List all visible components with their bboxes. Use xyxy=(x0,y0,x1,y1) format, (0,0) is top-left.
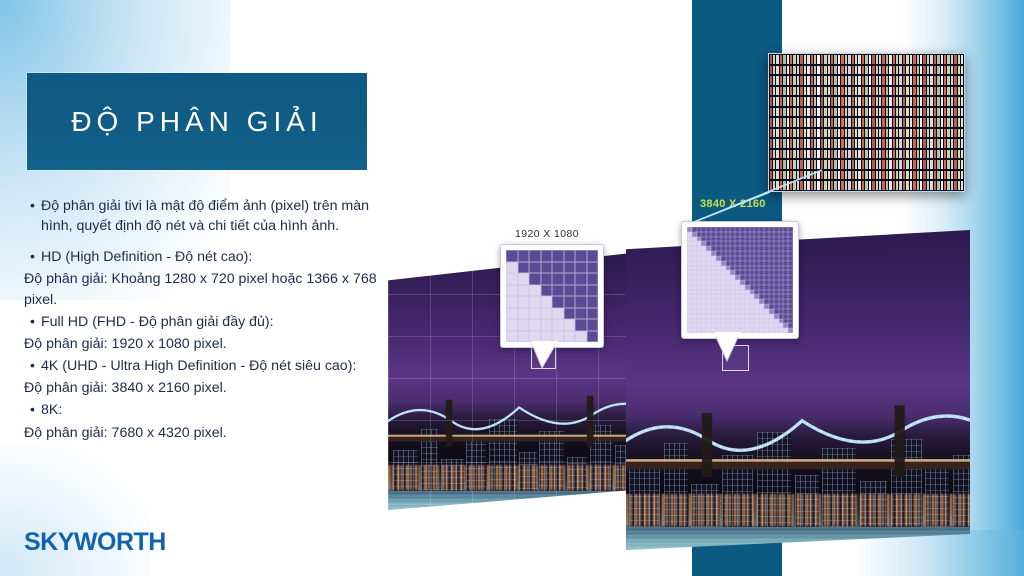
subpixel-stripe xyxy=(876,160,878,169)
pixel-cell xyxy=(564,262,576,274)
subpixel-stripe xyxy=(848,139,850,148)
subpixel-stripe xyxy=(934,150,936,159)
subpixel-triad xyxy=(902,138,912,149)
subpixel-stripe xyxy=(790,171,792,180)
subpixel-stripe xyxy=(869,108,871,117)
subpixel-stripe xyxy=(807,97,809,106)
subpixel-triad xyxy=(810,65,820,76)
subpixel-stripe xyxy=(800,181,802,190)
subpixel-stripe xyxy=(793,55,795,64)
subpixel-stripe xyxy=(958,66,960,75)
subpixel-triad xyxy=(954,159,964,170)
subpixel-stripe xyxy=(852,118,854,127)
subpixel-stripe xyxy=(817,76,819,85)
subpixel-stripe xyxy=(824,66,826,75)
subpixel-triad xyxy=(769,170,779,181)
subpixel-stripe xyxy=(797,97,799,106)
subpixel-stripe xyxy=(834,118,836,127)
subpixel-stripe xyxy=(882,76,884,85)
subpixel-stripe xyxy=(811,66,813,75)
subpixel-triad xyxy=(882,170,892,181)
subpixel-stripe xyxy=(923,129,925,138)
subpixel-stripe xyxy=(910,97,912,106)
subpixel-stripe xyxy=(913,55,915,64)
subpixel-stripe xyxy=(893,129,895,138)
subpixel-stripe xyxy=(797,139,799,148)
subpixel-stripe xyxy=(787,87,789,96)
subpixel-stripe xyxy=(944,66,946,75)
subpixel-stripe xyxy=(951,55,953,64)
subpixel-stripe xyxy=(776,118,778,127)
subpixel-stripe xyxy=(872,76,874,85)
pixel-cell xyxy=(552,308,564,320)
pixel-cell xyxy=(587,262,599,274)
subpixel-stripe xyxy=(824,150,826,159)
subpixel-stripe xyxy=(821,150,823,159)
subpixel-stripe xyxy=(927,87,929,96)
subpixel-triad xyxy=(892,159,902,170)
subpixel-stripe xyxy=(858,66,860,75)
subpixel-column xyxy=(800,54,810,191)
subpixel-stripe xyxy=(920,87,922,96)
subpixel-stripe xyxy=(896,87,898,96)
subpixel-triad xyxy=(913,75,923,86)
subpixel-stripe xyxy=(958,118,960,127)
subpixel-stripe xyxy=(899,97,901,106)
subpixel-stripe xyxy=(869,171,871,180)
subpixel-stripe xyxy=(783,108,785,117)
bullet-item: •Độ phân giải tivi là mật độ điểm ảnh (p… xyxy=(24,196,384,236)
subpixel-triad xyxy=(841,75,851,86)
subpixel-triad xyxy=(841,54,851,65)
subpixel-stripe xyxy=(951,108,953,117)
subpixel-stripe xyxy=(838,181,840,190)
subpixel-stripe xyxy=(852,160,854,169)
subpixel-stripe xyxy=(930,66,932,75)
subpixel-stripe xyxy=(923,139,925,148)
subpixel-stripe xyxy=(941,171,943,180)
subpixel-stripe xyxy=(848,150,850,159)
subpixel-stripe xyxy=(882,66,884,75)
subpixel-triad xyxy=(861,86,871,97)
subpixel-stripe xyxy=(941,150,943,159)
subpixel-stripe xyxy=(879,129,881,138)
subpixel-stripe xyxy=(770,55,772,64)
subpixel-stripe xyxy=(790,66,792,75)
subpixel-triad xyxy=(831,180,841,191)
subpixel-column xyxy=(790,54,800,191)
subpixel-stripe xyxy=(903,160,905,169)
pixel-cell xyxy=(518,273,530,285)
subpixel-triad xyxy=(810,117,820,128)
subpixel-stripe xyxy=(951,171,953,180)
subpixel-stripe xyxy=(773,160,775,169)
subpixel-stripe xyxy=(776,160,778,169)
subpixel-stripe xyxy=(855,97,857,106)
subpixel-stripe xyxy=(937,76,939,85)
subpixel-stripe xyxy=(882,129,884,138)
subpixel-stripe xyxy=(770,181,772,190)
subpixel-triad xyxy=(933,128,943,139)
subpixel-stripe xyxy=(917,108,919,117)
subpixel-stripe xyxy=(941,160,943,169)
subpixel-triad xyxy=(872,86,882,97)
subpixel-stripe xyxy=(848,76,850,85)
subpixel-stripe xyxy=(954,97,956,106)
subpixel-stripe xyxy=(814,150,816,159)
subpixel-stripe xyxy=(814,160,816,169)
subpixel-column xyxy=(913,54,923,191)
subpixel-column xyxy=(943,54,953,191)
bullet-item-text: Độ phân giải tivi là mật độ điểm ảnh (pi… xyxy=(41,196,384,236)
subpixel-triad xyxy=(861,128,871,139)
subpixel-stripe xyxy=(913,76,915,85)
subpixel-stripe xyxy=(855,87,857,96)
pixel-cell xyxy=(587,296,599,308)
subpixel-stripe xyxy=(780,150,782,159)
subpixel-triad xyxy=(841,65,851,76)
subpixel-stripe xyxy=(961,97,963,106)
subpixel-stripe xyxy=(910,150,912,159)
subpixel-stripe xyxy=(776,76,778,85)
subpixel-stripe xyxy=(872,97,874,106)
subpixel-triad xyxy=(943,54,953,65)
subpixel-stripe xyxy=(852,87,854,96)
subpixel-stripe xyxy=(876,87,878,96)
subpixel-triad xyxy=(779,180,789,191)
subpixel-triad xyxy=(841,117,851,128)
subpixel-stripe xyxy=(838,55,840,64)
subpixel-stripe xyxy=(961,66,963,75)
bullet-item-text: 8K: xyxy=(41,400,384,420)
subpixel-stripe xyxy=(906,139,908,148)
subpixel-stripe xyxy=(848,160,850,169)
subpixel-triad xyxy=(882,86,892,97)
subpixel-stripe xyxy=(920,150,922,159)
subpixel-triad xyxy=(779,86,789,97)
subpixel-stripe xyxy=(811,108,813,117)
subpixel-stripe xyxy=(947,76,949,85)
subpixel-stripe xyxy=(793,139,795,148)
pixel-cell xyxy=(564,331,576,343)
subpixel-stripe xyxy=(865,97,867,106)
subpixel-column xyxy=(831,54,841,191)
subpixel-stripe xyxy=(893,160,895,169)
subpixel-stripe xyxy=(879,76,881,85)
subpixel-stripe xyxy=(882,171,884,180)
subpixel-stripe xyxy=(858,76,860,85)
subpixel-triad xyxy=(872,107,882,118)
subpixel-stripe xyxy=(855,129,857,138)
subpixel-triad xyxy=(810,96,820,107)
subpixel-stripe xyxy=(862,171,864,180)
subpixel-stripe xyxy=(954,160,956,169)
pixel-cell xyxy=(518,331,530,343)
subpixel-stripe xyxy=(941,55,943,64)
subpixel-stripe xyxy=(930,171,932,180)
subpixel-stripe xyxy=(831,139,833,148)
subpixel-stripe xyxy=(834,76,836,85)
subpixel-stripe xyxy=(852,150,854,159)
subpixel-triad xyxy=(933,96,943,107)
subpixel-stripe xyxy=(917,181,919,190)
subpixel-stripe xyxy=(797,66,799,75)
subpixel-triad xyxy=(892,65,902,76)
subpixel-stripe xyxy=(937,97,939,106)
subpixel-stripe xyxy=(886,97,888,106)
subpixel-stripe xyxy=(838,66,840,75)
subpixel-stripe xyxy=(937,108,939,117)
uhd-resolution-label: 3840 X 2160 xyxy=(700,198,766,210)
subpixel-stripe xyxy=(787,160,789,169)
subpixel-stripe xyxy=(797,76,799,85)
pixel-cell xyxy=(587,319,599,331)
subpixel-stripe xyxy=(879,160,881,169)
subpixel-stripe xyxy=(876,108,878,117)
subpixel-stripe xyxy=(804,87,806,96)
subpixel-stripe xyxy=(958,129,960,138)
subpixel-stripe xyxy=(807,108,809,117)
subpixel-triad xyxy=(954,86,964,97)
subpixel-stripe xyxy=(814,66,816,75)
subpixel-triad xyxy=(913,86,923,97)
subpixel-stripe xyxy=(807,139,809,148)
subpixel-stripe xyxy=(930,181,932,190)
hd-pixel-callout xyxy=(500,244,604,348)
subpixel-stripe xyxy=(896,171,898,180)
subpixel-stripe xyxy=(770,87,772,96)
subpixel-stripe xyxy=(845,76,847,85)
subpixel-stripe xyxy=(841,55,843,64)
subpixel-stripe xyxy=(896,108,898,117)
pixel-cell xyxy=(575,331,587,343)
subpixel-stripe xyxy=(841,181,843,190)
subpixel-stripe xyxy=(893,118,895,127)
subpixel-stripe xyxy=(951,87,953,96)
subpixel-stripe xyxy=(800,129,802,138)
subpixel-stripe xyxy=(841,150,843,159)
subpixel-triad xyxy=(913,149,923,160)
subpixel-triad xyxy=(943,107,953,118)
subpixel-stripe xyxy=(920,139,922,148)
subpixel-stripe xyxy=(934,76,936,85)
subpixel-stripe xyxy=(783,76,785,85)
subpixel-stripe xyxy=(817,139,819,148)
subpixel-stripe xyxy=(917,87,919,96)
bullet-item: •HD (High Definition - Độ nét cao): xyxy=(24,247,384,267)
subpixel-stripe xyxy=(899,150,901,159)
subpixel-triad xyxy=(800,117,810,128)
subpixel-triad xyxy=(800,65,810,76)
subpixel-triad xyxy=(810,170,820,181)
subpixel-stripe xyxy=(838,171,840,180)
subpixel-triad xyxy=(882,96,892,107)
subpixel-stripe xyxy=(811,87,813,96)
subpixel-stripe xyxy=(896,97,898,106)
pixel-cell xyxy=(564,285,576,297)
subpixel-stripe xyxy=(910,76,912,85)
subpixel-stripe xyxy=(876,118,878,127)
subpixel-triad xyxy=(902,107,912,118)
subpixel-stripe xyxy=(958,160,960,169)
subpixel-stripe xyxy=(961,87,963,96)
subpixel-stripe xyxy=(872,160,874,169)
detail-line: Độ phân giải: Khoảng 1280 x 720 pixel ho… xyxy=(24,269,384,309)
subpixel-stripe xyxy=(834,129,836,138)
subpixel-stripe xyxy=(947,87,949,96)
subpixel-stripe xyxy=(848,171,850,180)
subpixel-triad xyxy=(831,149,841,160)
subpixel-stripe xyxy=(787,97,789,106)
subpixel-stripe xyxy=(927,66,929,75)
subpixel-stripe xyxy=(780,87,782,96)
subpixel-stripe xyxy=(817,129,819,138)
subpixel-triad xyxy=(913,96,923,107)
subpixel-stripe xyxy=(920,118,922,127)
subpixel-stripe xyxy=(862,76,864,85)
subpixel-stripe xyxy=(800,55,802,64)
subpixel-triad xyxy=(902,65,912,76)
subpixel-stripe xyxy=(913,160,915,169)
subpixel-triad xyxy=(810,107,820,118)
subpixel-stripe xyxy=(770,139,772,148)
subpixel-triad xyxy=(872,128,882,139)
pixel-cell xyxy=(518,296,530,308)
subpixel-stripe xyxy=(824,87,826,96)
subpixel-stripe xyxy=(862,129,864,138)
subpixel-stripe xyxy=(852,108,854,117)
subpixel-stripe xyxy=(790,181,792,190)
subpixel-triad xyxy=(933,65,943,76)
subpixel-stripe xyxy=(893,181,895,190)
subpixel-stripe xyxy=(800,66,802,75)
subpixel-stripe xyxy=(865,171,867,180)
subpixel-triad xyxy=(810,128,820,139)
subpixel-stripe xyxy=(797,108,799,117)
subpixel-triad xyxy=(892,107,902,118)
subpixel-stripe xyxy=(906,66,908,75)
subpixel-stripe xyxy=(848,87,850,96)
subpixel-stripe xyxy=(889,139,891,148)
subpixel-stripe xyxy=(811,76,813,85)
subpixel-triad xyxy=(872,180,882,191)
subpixel-stripe xyxy=(913,108,915,117)
subpixel-triad xyxy=(841,159,851,170)
subpixel-triad xyxy=(913,159,923,170)
subpixel-stripe xyxy=(855,150,857,159)
subpixel-stripe xyxy=(923,118,925,127)
subpixel-stripe xyxy=(958,55,960,64)
subpixel-column xyxy=(841,54,851,191)
subpixel-triad xyxy=(769,159,779,170)
subpixel-stripe xyxy=(865,160,867,169)
subpixel-stripe xyxy=(879,66,881,75)
subpixel-triad xyxy=(913,54,923,65)
subpixel-triad xyxy=(841,107,851,118)
subpixel-stripe xyxy=(913,171,915,180)
subpixel-stripe xyxy=(899,66,901,75)
subpixel-triad xyxy=(769,54,779,65)
subpixel-stripe xyxy=(787,129,789,138)
subpixel-stripe xyxy=(927,129,929,138)
subpixel-stripe xyxy=(804,118,806,127)
subpixel-triad xyxy=(810,138,820,149)
subpixel-stripe xyxy=(865,108,867,117)
subpixel-stripe xyxy=(838,87,840,96)
pixel-cell xyxy=(506,296,518,308)
subpixel-stripe xyxy=(947,97,949,106)
subpixel-triad xyxy=(779,159,789,170)
subpixel-triad xyxy=(820,128,830,139)
subpixel-stripe xyxy=(858,160,860,169)
subpixel-stripe xyxy=(869,139,871,148)
subpixel-column xyxy=(779,54,789,191)
subpixel-triad xyxy=(820,159,830,170)
subpixel-stripe xyxy=(838,108,840,117)
subpixel-stripe xyxy=(848,118,850,127)
subpixel-stripe xyxy=(770,150,772,159)
subpixel-stripe xyxy=(821,181,823,190)
subpixel-stripe xyxy=(790,97,792,106)
subpixel-stripe xyxy=(807,76,809,85)
subpixel-stripe xyxy=(906,171,908,180)
subpixel-stripe xyxy=(831,108,833,117)
subpixel-stripe xyxy=(899,87,901,96)
subpixel-stripe xyxy=(793,160,795,169)
subpixel-stripe xyxy=(804,76,806,85)
subpixel-stripe xyxy=(841,171,843,180)
subpixel-triad xyxy=(933,117,943,128)
subpixel-stripe xyxy=(882,150,884,159)
subpixel-column xyxy=(902,54,912,191)
subpixel-stripe xyxy=(811,118,813,127)
subpixel-triad xyxy=(800,86,810,97)
subpixel-triad xyxy=(882,54,892,65)
subpixel-stripe xyxy=(910,171,912,180)
subpixel-stripe xyxy=(944,55,946,64)
subpixel-stripe xyxy=(923,87,925,96)
subpixel-stripe xyxy=(903,181,905,190)
subpixel-stripe xyxy=(811,150,813,159)
subpixel-stripe xyxy=(793,181,795,190)
subpixel-stripe xyxy=(930,118,932,127)
subpixel-stripe xyxy=(852,97,854,106)
subpixel-column xyxy=(923,54,933,191)
subpixel-stripe xyxy=(821,55,823,64)
subpixel-stripe xyxy=(793,171,795,180)
pixel-cell xyxy=(506,308,518,320)
subpixel-stripe xyxy=(787,171,789,180)
subpixel-stripe xyxy=(917,160,919,169)
subpixel-triad xyxy=(820,117,830,128)
subpixel-stripe xyxy=(920,108,922,117)
subpixel-stripe xyxy=(770,129,772,138)
subpixel-stripe xyxy=(941,181,943,190)
subpixel-stripe xyxy=(886,118,888,127)
subpixel-stripe xyxy=(934,55,936,64)
subpixel-stripe xyxy=(961,139,963,148)
subpixel-stripe xyxy=(824,108,826,117)
subpixel-stripe xyxy=(934,66,936,75)
subpixel-triad xyxy=(933,75,943,86)
subpixel-triad xyxy=(851,86,861,97)
subpixel-stripe xyxy=(862,66,864,75)
subpixel-stripe xyxy=(869,87,871,96)
subpixel-stripe xyxy=(930,87,932,96)
subpixel-triad xyxy=(923,86,933,97)
subpixel-stripe xyxy=(807,160,809,169)
subpixel-triad xyxy=(923,107,933,118)
